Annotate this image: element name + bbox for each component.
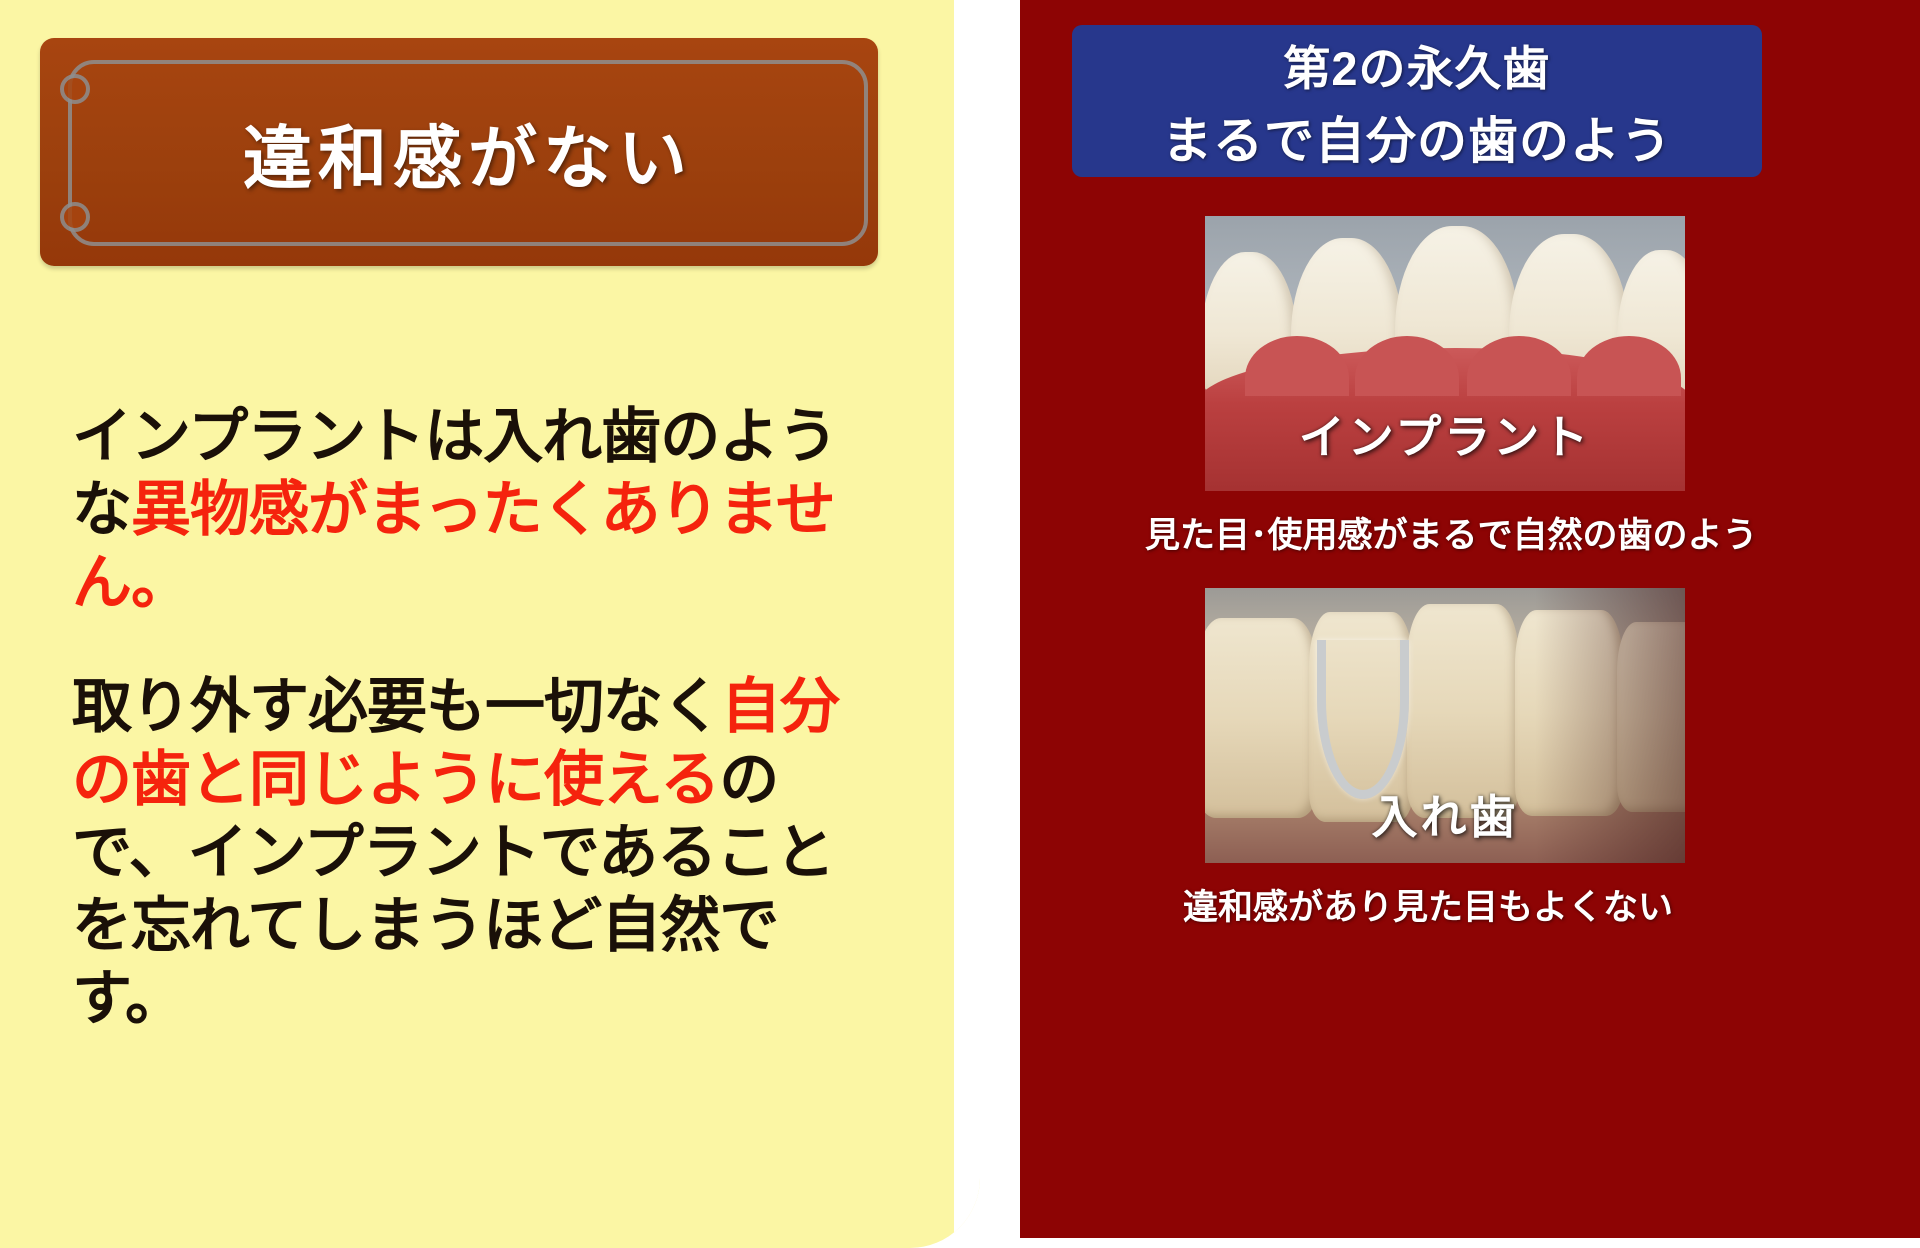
- comparison-block-denture: 入れ歯 違和感があり見た目もよくない: [1205, 588, 1685, 930]
- paragraph-2-segment-1: 取り外す必要も一切なく: [72, 673, 721, 740]
- paragraph-1: インプラントは入れ歯のような異物感がまったくありません。: [72, 400, 862, 620]
- left-body-copy: インプラントは入れ歯のような異物感がまったくありません。 取り外す必要も一切なく…: [72, 400, 862, 1036]
- paragraph-2: 取り外す必要も一切なく自分の歯と同じように使えるので、インプラントであることを忘…: [72, 670, 862, 1036]
- infographic-root: 違和感がない インプラントは入れ歯のような異物感がまったくありません。 取り外す…: [0, 0, 1920, 1248]
- denture-photo: 入れ歯: [1205, 588, 1685, 863]
- implant-photo-label: インプラント: [1205, 401, 1685, 467]
- red-card: 第2の永久歯 まるで自分の歯のよう インプラント: [1020, 0, 1920, 1238]
- right-banner: 第2の永久歯 まるで自分の歯のよう: [1072, 25, 1762, 177]
- left-panel: 違和感がない インプラントは入れ歯のような異物感がまったくありません。 取り外す…: [0, 0, 1000, 1248]
- implant-photo: インプラント: [1205, 216, 1685, 491]
- right-panel: 第2の永久歯 まるで自分の歯のよう インプラント: [1000, 0, 1920, 1248]
- comparison-block-implant: インプラント 見た目･使用感がまるで自然の歯のよう: [1205, 216, 1685, 558]
- right-banner-line-1: 第2の永久歯: [1283, 30, 1550, 99]
- right-banner-line-2: まるで自分の歯のよう: [1162, 101, 1672, 173]
- implant-caption: 見た目･使用感がまるで自然の歯のよう: [1145, 507, 1625, 558]
- left-banner: 違和感がない: [40, 38, 878, 266]
- yellow-card: 違和感がない インプラントは入れ歯のような異物感がまったくありません。 取り外す…: [0, 0, 980, 1248]
- denture-photo-label: 入れ歯: [1205, 781, 1685, 847]
- left-banner-title: 違和感がない: [40, 38, 878, 266]
- paragraph-1-segment-2-highlight: 異物感がまったくありません。: [72, 476, 835, 616]
- denture-caption: 違和感があり見た目もよくない: [1183, 879, 1663, 930]
